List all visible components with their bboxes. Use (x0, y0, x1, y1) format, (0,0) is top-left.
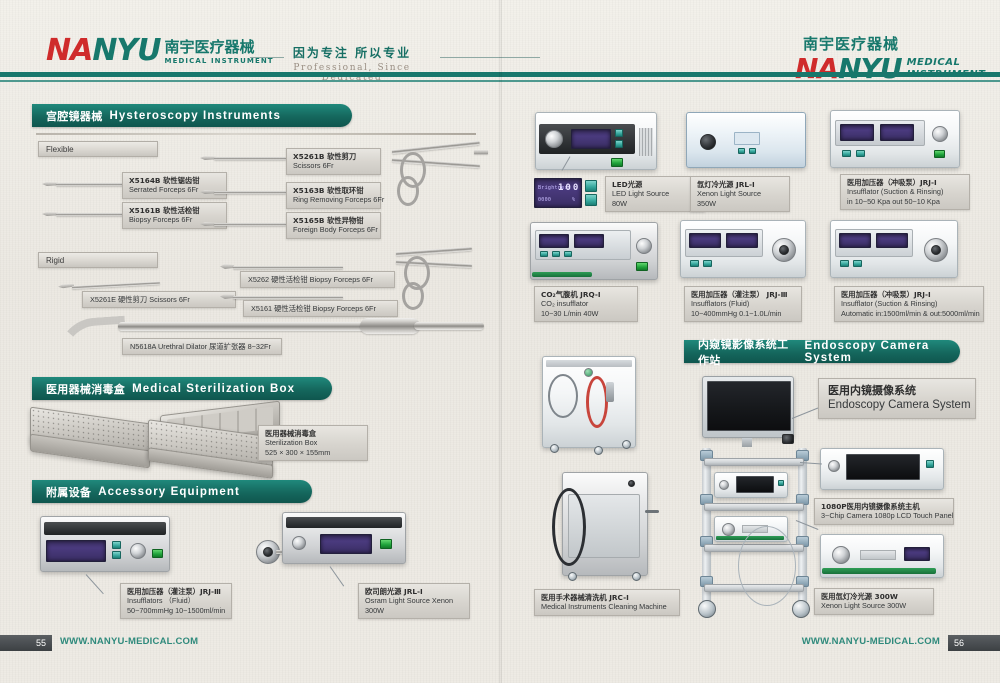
page-left: 宫腔镜器械 Hysteroscopy Instruments Flexible … (0, 0, 500, 683)
group-label-rigid: Rigid (38, 252, 158, 268)
page-number-left: 55 (0, 635, 52, 651)
hose-red (586, 376, 608, 428)
caption-dilator: N5618A Urethral Dilator 尿道扩张器 8~32Fr (122, 338, 282, 355)
cart-camera-unit (714, 472, 788, 498)
device-1080p-camera (820, 448, 944, 490)
leader-line-insufflator (86, 574, 104, 594)
caption-accessory-insufflator-spec: 50~700mmHg 10~1500ml/min (127, 606, 225, 615)
caption-xenon-en: Xenon Light Source (697, 189, 783, 198)
device-cleaning-machine-lower (552, 466, 662, 586)
caption-cleaning-cn: 医用手术器械清洗机 JRC-Ⅰ (541, 593, 673, 602)
brand-medical-line1: MEDICAL (907, 57, 986, 69)
section-title-hysteroscopy: 宫腔镜器械 Hysteroscopy Instruments (32, 104, 352, 127)
forceps-ring-b (397, 176, 419, 206)
caption-ins2-cn: 医用加压器（冲吸泵）JRJ-Ⅰ (841, 290, 977, 299)
caption-ins2-spec: Automatic in:1500ml/min & out:5000ml/min (841, 309, 977, 318)
section-title-endoscopy-en: Endoscopy Camera System (804, 340, 960, 364)
section-title-accessory: 附属设备 Accessory Equipment (32, 480, 312, 503)
lcd-sub: 0000 (538, 197, 551, 203)
caption-endo-sys-en: Endoscopy Camera System (828, 398, 966, 413)
device-osram-light-source (282, 512, 406, 564)
caption-sterilization-spec: 525 × 300 × 155mm (265, 448, 361, 457)
caption-cleaning-en: Medical Instruments Cleaning Machine (541, 602, 673, 611)
section-title-sterilization: 医用器械消毒盒 Medical Sterilization Box (32, 377, 332, 400)
device-insufflator-suction-1 (830, 110, 960, 168)
caption-accessory-insufflator-cn: 医用加压器（灌注泵）JRJ-Ⅲ (127, 587, 225, 596)
caption-co2-spec: 10~30 L/min 40W (541, 309, 631, 318)
forceps-ring-d (402, 282, 424, 310)
caption-led-cn: LED光源 (612, 180, 698, 189)
section-title-endoscopy: 内窥镜影像系统工作站 Endoscopy Camera System (684, 340, 960, 363)
caption-1080p-cn: 1080P医用内镜摄像系统主机 (821, 502, 947, 511)
brand-wordmark-red: NA (46, 33, 92, 68)
caption-led-en: LED Light Source (612, 189, 698, 198)
caption-xenon-cn: 氙灯冷光源 JRL-Ⅰ (697, 180, 783, 189)
hose-grey (548, 374, 578, 418)
lcd-unit: % (572, 197, 575, 203)
device-xenon-light-source (686, 112, 806, 168)
caption-x5165b-cn: X5165B 软性异物钳 (293, 216, 374, 225)
caption-ins2-en: Insufflator (Suction & Rinsing) (841, 299, 977, 308)
brand-wordmark: NANYU (46, 36, 161, 66)
caption-accessory-light-source: 欧司朗光源 JRL-Ⅰ Osram Light Source Xenon 300… (358, 583, 470, 619)
caption-accessory-insufflator: 医用加压器（灌注泵）JRJ-Ⅲ Insufflators （Fluid） 50~… (120, 583, 232, 619)
caption-xenon300-cn: 医用氙灯冷光源 300W (821, 592, 927, 601)
website-right[interactable]: WWW.NANYU-MEDICAL.COM (802, 636, 940, 647)
section-title-sterilization-en: Medical Sterilization Box (132, 383, 295, 395)
caption-x5161: X5161 硬性活检钳 Biopsy Forceps 6Fr (243, 300, 398, 317)
lcd-detail-inset: Brightness 100 0000 % (534, 178, 600, 208)
caption-accessory-light-source-spec: 300W (365, 606, 463, 615)
group-label-flexible-text: Flexible (46, 145, 74, 154)
caption-x5164b-cn: X5164B 软性锯齿钳 (129, 176, 220, 185)
brand-name-cn: 南宇医疗器械 (165, 40, 274, 56)
caption-x5261b-cn: X5261B 软性剪刀 (293, 152, 374, 161)
device-insufflator-fluid (40, 516, 170, 572)
caption-insufflator-suction-1: 医用加压器（冲吸泵）JRJ-Ⅰ Insufflator (Suction & R… (840, 174, 970, 210)
caption-fluid2-spec: 10~400mmHg 0.1~1.0L/min (691, 309, 795, 318)
brand-logo-left: NANYU 南宇医疗器械 MEDICAL INSTRUMENT (46, 36, 274, 66)
caption-x5165b-en: Foreign Body Forceps 6Fr (293, 225, 374, 234)
brand-wordmark-green: NYU (92, 33, 160, 68)
caption-x5163b-en: Ring Removing Forceps 6Fr (293, 195, 374, 204)
caption-sterilization-box: 医用器械消毒盒 Sterilization Box 525 × 300 × 15… (258, 425, 368, 461)
caption-ins1-spec: in 10~50 Kpa out 50~10 Kpa (847, 197, 963, 206)
caption-co2-en: CO₂ insufflator (541, 299, 631, 308)
camera-head (782, 434, 794, 444)
caption-1080p-en: 3~Chip Camera 1080p LCD Touch Panel (821, 511, 947, 520)
caption-xenon300-en: Xenon Light Source 300W (821, 601, 927, 610)
caption-dilator-text: N5618A Urethral Dilator 尿道扩张器 8~32Fr (130, 342, 274, 351)
caption-co2-insufflator: CO₂气腹机 JRQ-Ⅰ CO₂ insufflator 10~30 L/min… (534, 286, 638, 322)
caption-ins1-en: Insufflator (Suction & Rinsing) (847, 187, 963, 196)
device-insufflator-fluid-2 (680, 220, 806, 278)
caption-co2-cn: CO₂气腹机 JRQ-Ⅰ (541, 290, 631, 299)
page-spine (499, 0, 502, 683)
caption-insufflator-suction-2: 医用加压器（冲吸泵）JRJ-Ⅰ Insufflator (Suction & R… (834, 286, 984, 322)
caption-x5262-text: X5262 硬性活检钳 Biopsy Forceps 6Fr (248, 275, 387, 284)
caption-endoscopy-system: 医用内镜摄像系统 Endoscopy Camera System (818, 378, 976, 419)
caption-accessory-light-source-en: Osram Light Source Xenon (365, 596, 463, 605)
caption-insufflator-fluid-2: 医用加压器（灌注泵） JRJ-Ⅲ Insufflators (Fluid) 10… (684, 286, 802, 322)
caption-x5164b: X5164B 软性锯齿钳 Serrated Forceps 6Fr (122, 172, 227, 199)
caption-x5163b-cn: X5163B 软性取环钳 (293, 186, 374, 195)
hose-black (552, 488, 586, 566)
caption-x5161b-cn: X5161B 软性活检钳 (129, 206, 220, 215)
lcd-value: 100 (558, 183, 580, 193)
section-title-sterilization-cn: 医用器械消毒盒 (46, 381, 125, 397)
caption-accessory-insufflator-en: Insufflators （Fluid） (127, 596, 225, 605)
device-insufflator-suction-2 (830, 220, 958, 278)
brand-name-en: MEDICAL INSTRUMENT (165, 57, 274, 65)
page-number-right: 56 (948, 635, 1000, 651)
device-led-light-source (535, 112, 657, 170)
caption-x5261b: X5261B 软性剪刀 Scissors 6Fr (286, 148, 381, 175)
device-co2-insufflator (530, 222, 658, 280)
slogan-cn: 因为专注 所以专业 (272, 44, 432, 61)
caption-xenon-spec: 350W (697, 199, 783, 208)
page-right: Brightness 100 0000 % LED光源 LED Light So… (500, 0, 1000, 683)
caption-x5262: X5262 硬性活检钳 Biopsy Forceps 6Fr (240, 271, 395, 288)
caption-accessory-light-source-cn: 欧司朗光源 JRL-Ⅰ (365, 587, 463, 596)
section-underline-hysteroscopy (36, 133, 476, 135)
website-left[interactable]: WWW.NANYU-MEDICAL.COM (60, 636, 198, 647)
brand-name-cn-right: 南宇医疗器械 (803, 33, 985, 54)
brand-wordmark-right: NANYU (795, 55, 902, 83)
caption-led-spec: 80W (612, 199, 698, 208)
brand-slogan: 因为专注 所以专业 Professional, Since Dedicated (272, 44, 432, 83)
section-title-accessory-cn: 附属设备 (46, 484, 91, 500)
caption-x5261e: X5261E 硬性剪刀 Scissors 6Fr (82, 291, 236, 308)
section-title-hysteroscopy-cn: 宫腔镜器械 (46, 108, 103, 124)
section-title-accessory-en: Accessory Equipment (98, 486, 240, 498)
caption-x5261e-text: X5261E 硬性剪刀 Scissors 6Fr (90, 295, 228, 304)
caption-x5261b-en: Scissors 6Fr (293, 161, 374, 170)
caption-endo-sys-cn: 医用内镜摄像系统 (828, 384, 966, 398)
caption-x5163b: X5163B 软性取环钳 Ring Removing Forceps 6Fr (286, 182, 381, 209)
caption-fluid2-cn: 医用加压器（灌注泵） JRJ-Ⅲ (691, 290, 795, 299)
caption-x5165b: X5165B 软性异物钳 Foreign Body Forceps 6Fr (286, 212, 381, 239)
caption-sterilization-cn: 医用器械消毒盒 (265, 429, 361, 438)
device-xenon-300w (820, 534, 944, 578)
caption-sterilization-en: Sterilization Box (265, 438, 361, 447)
caption-x5161-text: X5161 硬性活检钳 Biopsy Forceps 6Fr (251, 304, 390, 313)
caption-xenon-light-source: 氙灯冷光源 JRL-Ⅰ Xenon Light Source 350W (690, 176, 790, 212)
group-label-flexible: Flexible (38, 141, 158, 157)
device-cleaning-machine-upper (542, 352, 648, 458)
section-title-hysteroscopy-en: Hysteroscopy Instruments (110, 110, 281, 122)
caption-fluid2-en: Insufflators (Fluid) (691, 299, 795, 308)
caption-ins1-cn: 医用加压器（冲吸泵）JRJ-Ⅰ (847, 178, 963, 187)
leader-line-light-source (330, 566, 345, 586)
header-rule-right (440, 57, 540, 58)
caption-cleaning-machine: 医用手术器械清洗机 JRC-Ⅰ Medical Instruments Clea… (534, 589, 680, 616)
caption-xenon-300w: 医用氙灯冷光源 300W Xenon Light Source 300W (814, 588, 934, 615)
section-title-endoscopy-cn: 内窥镜影像系统工作站 (698, 336, 797, 368)
scope-light-cable (738, 526, 796, 606)
caption-1080p-camera: 1080P医用内镜摄像系统主机 3~Chip Camera 1080p LCD … (814, 498, 954, 525)
group-label-rigid-text: Rigid (46, 256, 64, 265)
